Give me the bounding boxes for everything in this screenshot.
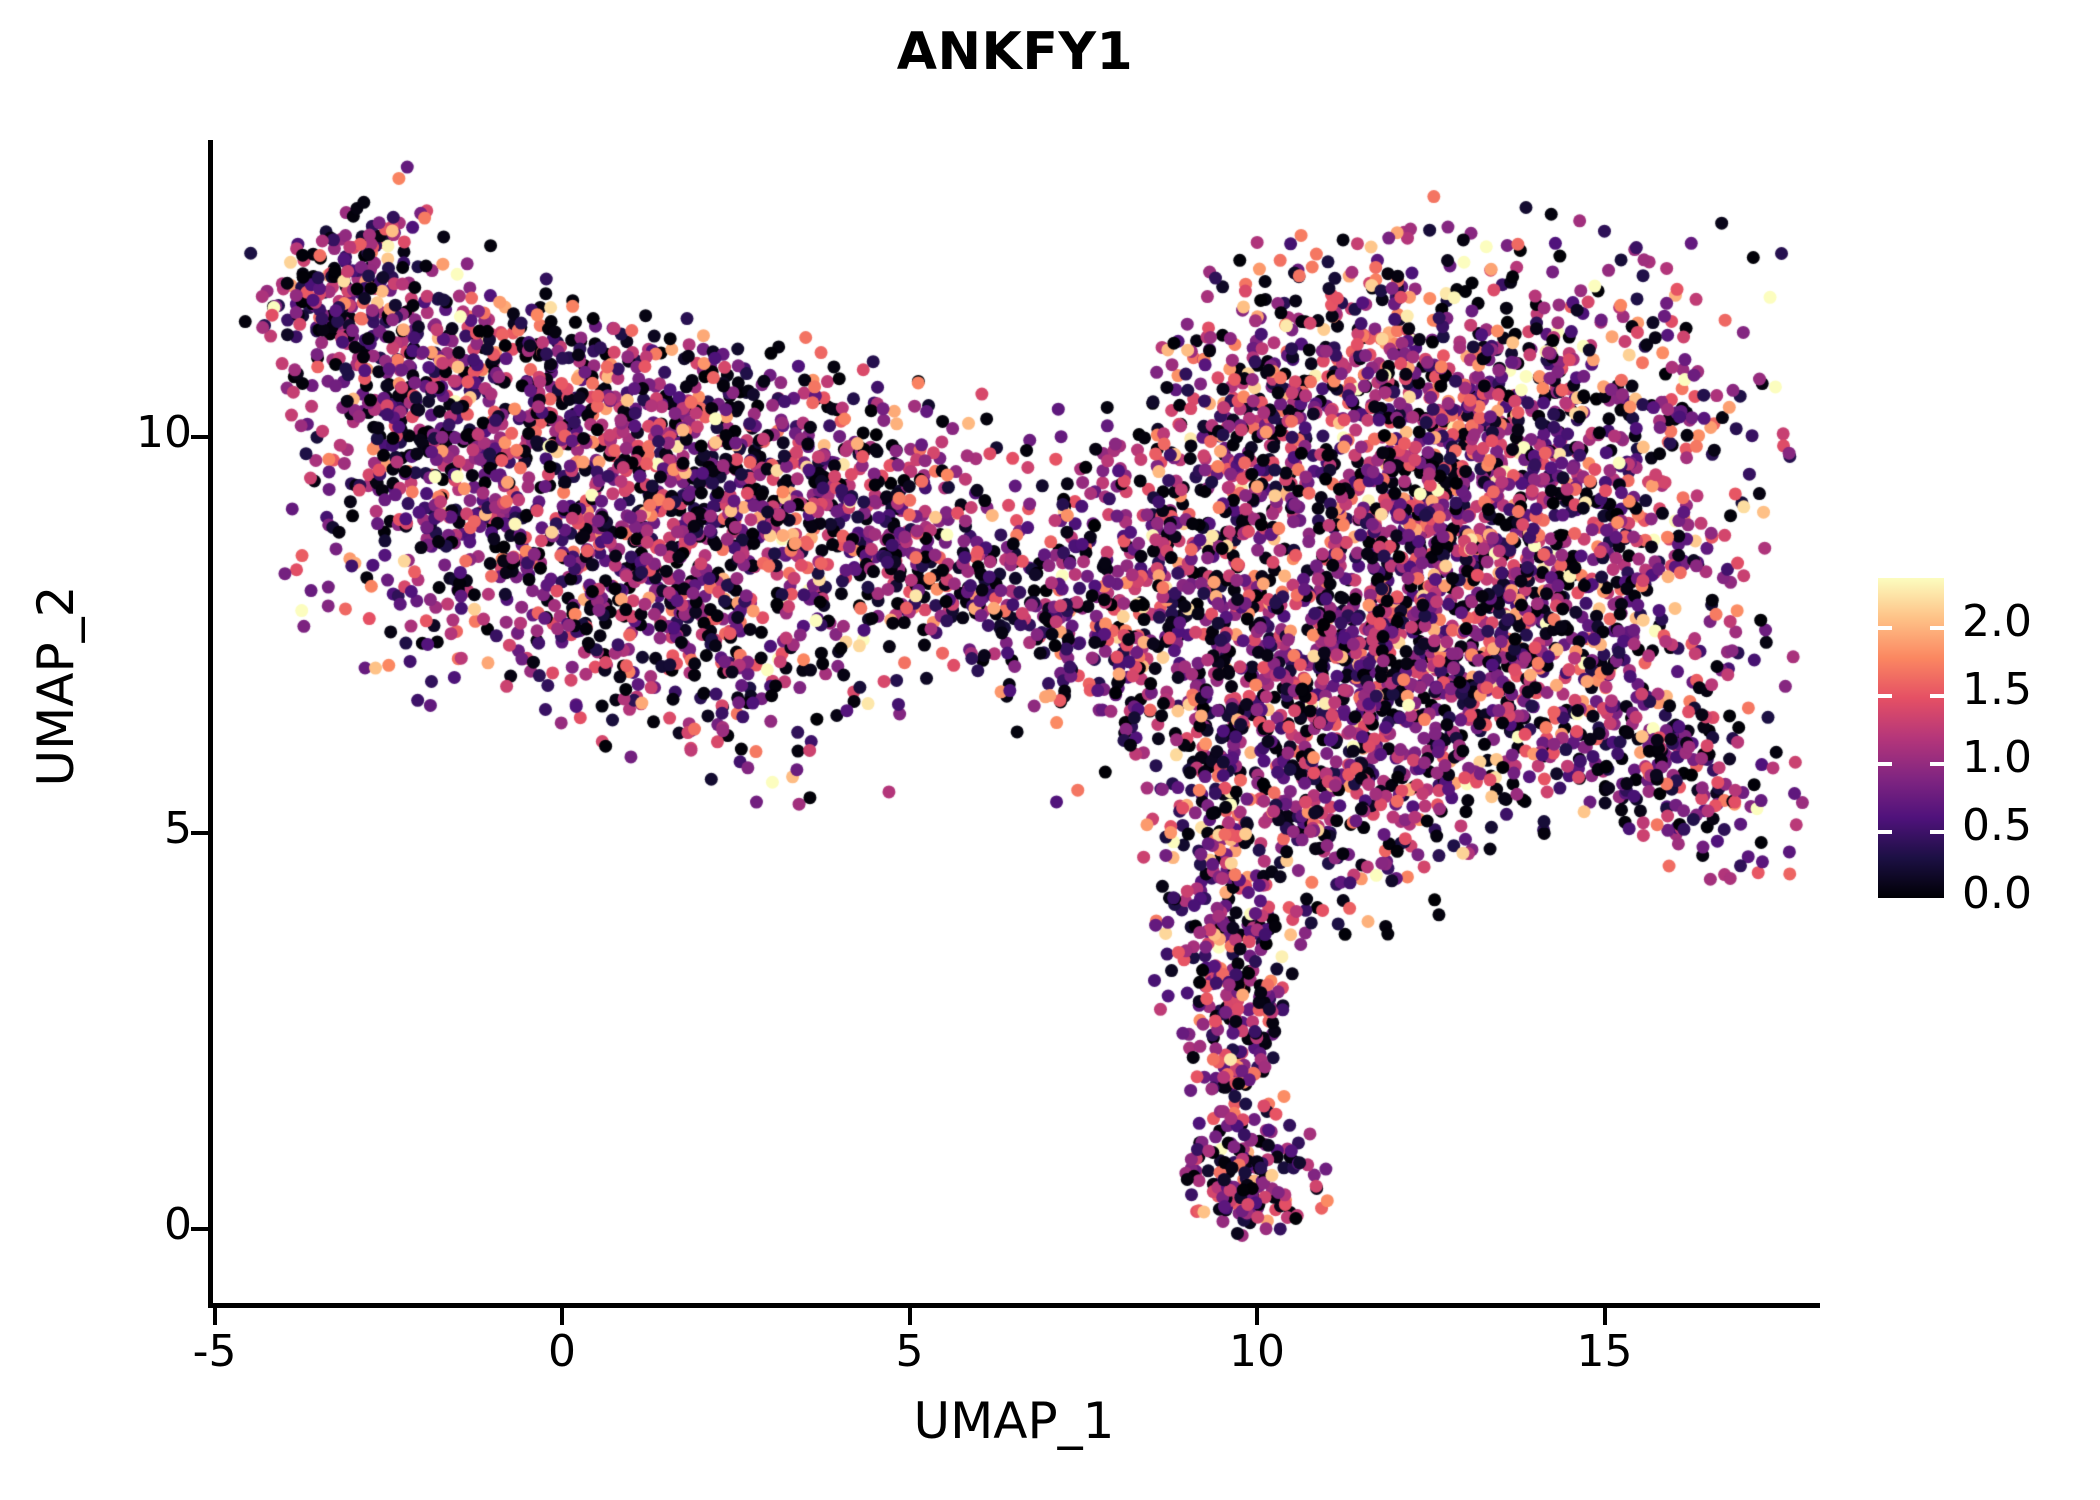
y-tick-mark bbox=[191, 831, 208, 835]
x-tick-mark bbox=[908, 1308, 912, 1325]
colorbar-tick-mark bbox=[1878, 830, 1892, 834]
x-tick-mark bbox=[213, 1308, 217, 1325]
colorbar-tick-label: 1.5 bbox=[1962, 664, 2032, 715]
x-tick-label: 15 bbox=[1505, 1326, 1705, 1377]
colorbar-tick-mark bbox=[1878, 626, 1892, 630]
chart-root: ANKFY1 -5051015 0510 UMAP_1 UMAP_2 0.00.… bbox=[0, 0, 2100, 1500]
colorbar-tick-mark bbox=[1930, 626, 1944, 630]
x-tick-mark bbox=[1603, 1308, 1607, 1325]
x-tick-mark bbox=[560, 1308, 564, 1325]
colorbar-tick-label: 0.5 bbox=[1962, 800, 2032, 851]
colorbar-tick-mark bbox=[1878, 898, 1892, 902]
y-tick-mark bbox=[191, 1227, 208, 1231]
colorbar-tick-label: 0.0 bbox=[1962, 868, 2032, 919]
colorbar-tick-mark bbox=[1930, 694, 1944, 698]
x-tick-label: -5 bbox=[115, 1326, 315, 1377]
colorbar-tick-mark bbox=[1930, 762, 1944, 766]
x-tick-label: 0 bbox=[462, 1326, 662, 1377]
page-title: ANKFY1 bbox=[0, 22, 2030, 82]
colorbar-tick-label: 2.0 bbox=[1962, 596, 2032, 647]
x-axis-spine bbox=[208, 1303, 1820, 1308]
colorbar-tick-mark bbox=[1878, 694, 1892, 698]
x-tick-label: 5 bbox=[810, 1326, 1010, 1377]
colorbar-tick-mark bbox=[1930, 898, 1944, 902]
scatter-plot-canvas bbox=[0, 0, 2100, 1500]
y-axis-spine bbox=[208, 140, 213, 1308]
x-tick-mark bbox=[1255, 1308, 1259, 1325]
colorbar-tick-mark bbox=[1878, 762, 1892, 766]
x-tick-label: 10 bbox=[1157, 1326, 1357, 1377]
colorbar[interactable]: 0.00.51.01.52.0 bbox=[1878, 578, 2078, 908]
colorbar-tick-mark bbox=[1930, 830, 1944, 834]
x-axis-label: UMAP_1 bbox=[208, 1392, 1820, 1450]
colorbar-tick-label: 1.0 bbox=[1962, 732, 2032, 783]
y-tick-mark bbox=[191, 435, 208, 439]
y-tick-label: 0 bbox=[0, 1199, 192, 1250]
y-axis-label: UMAP_2 bbox=[27, 361, 85, 1011]
